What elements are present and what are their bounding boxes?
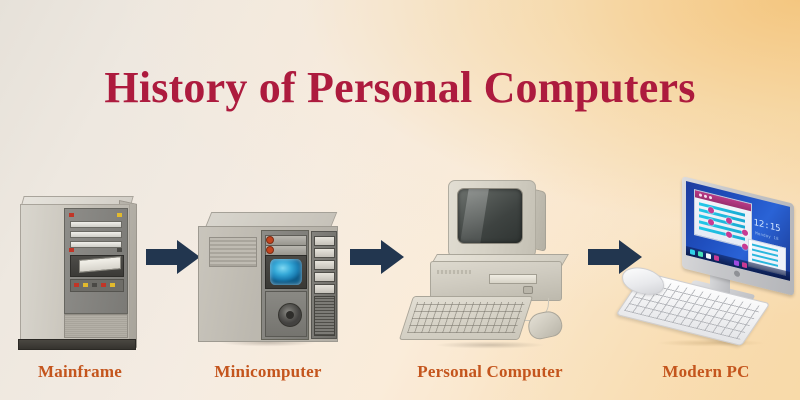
minicomputer-card: [314, 236, 335, 246]
dock-icon-3[interactable]: [706, 253, 711, 259]
page-title: History of Personal Computers: [0, 62, 800, 114]
minicomputer-cabinet: [198, 226, 338, 342]
mainframe-slot: [70, 241, 122, 248]
beige-keyboard: [399, 296, 533, 340]
mainframe-illustration: [0, 177, 160, 352]
modern-pc-shadow: [636, 338, 786, 348]
minicomputer-card: [314, 272, 335, 282]
desktop-case: [430, 261, 562, 301]
floppy-disk-drive: [489, 274, 537, 284]
minicomputer-knob: [266, 236, 274, 244]
mainframe-slot: [70, 221, 122, 228]
minicomputer-card: [314, 284, 335, 294]
personal-computer-shadow: [414, 340, 566, 350]
dock-icon-4[interactable]: [714, 255, 719, 261]
mainframe-indicator-yellow: [83, 283, 88, 287]
minicomputer-crt-bezel: [265, 255, 307, 289]
all-in-one-monitor: 12:15 Monday 18 June: [682, 176, 794, 296]
mainframe-indicator-red: [69, 213, 74, 217]
mainframe-indicator-red: [101, 283, 106, 287]
minicomputer-drive-bay: [265, 291, 307, 337]
stage-modern-pc: 12:15 Monday 18 June: [612, 170, 800, 400]
crt-monitor: [448, 180, 536, 258]
dock-icon-5[interactable]: [734, 260, 739, 266]
stage-mainframe: Mainframe: [0, 170, 160, 400]
poster-canvas: History of Personal Computers: [0, 0, 800, 400]
desktop-case-vent: [437, 270, 471, 274]
crt-monitor-chin: [457, 246, 521, 254]
minicomputer-vent-grille: [209, 237, 257, 267]
crt-monitor-screen: [457, 188, 523, 244]
mainframe-indicator-dark: [117, 248, 122, 252]
mainframe-indicator-yellow: [117, 213, 122, 217]
personal-computer-illustration: [390, 177, 590, 352]
keyboard-keys: [407, 302, 525, 333]
modern-pc-icon: 12:15 Monday 18 June: [622, 176, 798, 346]
mainframe-control-panel: [64, 208, 128, 314]
minicomputer-card: [314, 248, 335, 258]
minicomputer-front-panel: [261, 230, 309, 340]
window-dot: [704, 194, 707, 198]
modern-pc-illustration: 12:15 Monday 18 June: [612, 177, 800, 352]
personal-computer-icon: [406, 180, 574, 348]
screen-glare: [458, 188, 490, 244]
mainframe-vent-grille: [64, 314, 128, 338]
mainframe-indicator-dark: [92, 283, 97, 287]
window-dot: [699, 193, 702, 197]
desktop-app-window: [694, 189, 752, 249]
minicomputer-crt-screen: [270, 259, 302, 285]
mainframe-indicator-yellow: [110, 283, 115, 287]
desktop-case-power-button: [523, 286, 533, 294]
minicomputer-knob: [266, 246, 274, 254]
minicomputer-illustration: [178, 177, 358, 352]
modern-mouse: [621, 265, 665, 298]
dock-icon-1[interactable]: [690, 249, 695, 255]
dock-icon-6[interactable]: [742, 262, 747, 268]
minicomputer-tape-reel: [278, 303, 302, 327]
stage-personal-computer: Personal Computer: [390, 170, 590, 400]
mainframe-icon: [16, 196, 140, 348]
stage-caption-modern-pc: Modern PC: [612, 362, 800, 382]
minicomputer-icon: [196, 212, 340, 344]
mainframe-slot: [70, 231, 122, 238]
minicomputer-rack-grille: [314, 296, 335, 336]
minicomputer-expansion-rack: [311, 231, 337, 339]
dock-icon-2[interactable]: [698, 251, 703, 257]
stage-minicomputer: Minicomputer: [178, 170, 358, 400]
minicomputer-card: [314, 260, 335, 270]
stage-caption-minicomputer: Minicomputer: [178, 362, 358, 382]
mainframe-indicator-red: [74, 283, 79, 287]
window-dot: [709, 196, 712, 200]
stage-caption-mainframe: Mainframe: [0, 362, 160, 382]
mainframe-button-row: [70, 279, 124, 292]
stage-caption-personal-computer: Personal Computer: [390, 362, 590, 382]
mainframe-indicator-red: [69, 248, 74, 252]
mainframe-plinth: [18, 339, 136, 350]
